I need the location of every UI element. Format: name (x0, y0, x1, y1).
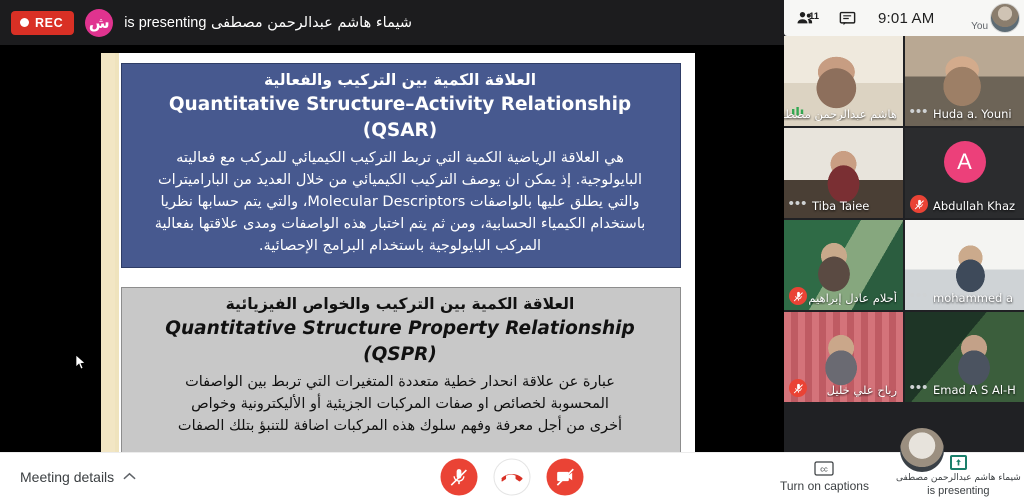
qspr-body-line-2: المحسوبة لخصائص او صفات المركبات الجزيئي… (132, 393, 668, 415)
mic-off-icon (793, 291, 804, 302)
meeting-clock: 9:01 AM (868, 10, 940, 27)
participant-tile[interactable]: ••• Tiba Taiee (784, 128, 903, 218)
participant-name: هاشم عبدالرحمن مصطفى (784, 107, 897, 121)
participant-name: رباح علي خليل (827, 383, 897, 397)
self-label: You (971, 21, 988, 36)
presenter-avatar: ش (85, 9, 113, 37)
qsar-body-line-5: المركب البايولوجية باستخدام البرامج الإح… (132, 235, 668, 257)
participants-button[interactable]: 11 (784, 8, 826, 28)
presenting-person-name: شيماء هاشم عبدالرحمن مصطفى (896, 473, 1021, 484)
presenting-banner: شيماء هاشم عبدالرحمن مصطفى is presenting (124, 15, 412, 31)
mouse-cursor (76, 355, 86, 370)
participant-tile[interactable]: A Abdullah Khaz (905, 128, 1024, 218)
muted-icon (789, 287, 807, 305)
captions-button[interactable]: cc Turn on captions (780, 461, 869, 493)
present-arrow-icon (954, 458, 963, 467)
more-options-icon[interactable]: ••• (910, 103, 928, 121)
participant-tile[interactable]: ••• Emad A S Al-H (905, 312, 1024, 402)
participant-tile[interactable]: أحلام عادل إبراهيم (784, 220, 903, 310)
record-dot-icon (20, 18, 29, 27)
mic-off-icon (793, 383, 804, 394)
self-avatar[interactable] (990, 3, 1020, 33)
slide-block-qspr: العلاقة الكمية بين التركيب والخواص الفيز… (121, 287, 681, 452)
mic-off-icon (450, 467, 469, 486)
recording-label: REC (35, 16, 63, 30)
leave-call-button[interactable] (494, 458, 531, 495)
recording-badge: REC (11, 11, 74, 35)
mic-toggle-button[interactable] (441, 458, 478, 495)
chat-button[interactable] (826, 9, 868, 28)
muted-icon (910, 195, 928, 213)
call-controls (441, 458, 584, 495)
more-options-icon[interactable]: ••• (910, 379, 928, 397)
self-view-thumbnail[interactable] (900, 428, 944, 472)
qsar-body-line-3-post: ، والتي يتم حسابها نظريا (160, 194, 307, 210)
participant-name: Tiba Taiee (812, 199, 899, 213)
more-options-icon[interactable]: ••• (789, 195, 807, 213)
participant-name: Abdullah Khaz (933, 199, 1020, 213)
qsar-title-english: Quantitative Structure–Activity Relation… (132, 92, 668, 144)
qspr-title-arabic: العلاقة الكمية بين التركيب والخواص الفيز… (132, 294, 668, 315)
rail-header: 11 9:01 AM You (784, 0, 1024, 36)
meet-window: العلاقة الكمية بين التركيب والفعالية Qua… (0, 0, 1024, 500)
chat-icon (838, 9, 857, 28)
camera-off-icon (555, 467, 575, 487)
participant-avatar-initial: A (957, 149, 972, 175)
qsar-body-line-4: باستخدام الكيمياء الحسابية، ومن ثم يتم ا… (132, 213, 668, 235)
participant-name: أحلام عادل إبراهيم (808, 291, 897, 305)
meeting-details-button[interactable]: Meeting details (20, 469, 136, 485)
camera-toggle-button[interactable] (547, 458, 584, 495)
qsar-body-line-3-english: Molecular Descriptors (307, 194, 465, 210)
qsar-title-arabic: العلاقة الكمية بين التركيب والفعالية (132, 70, 668, 91)
presenting-suffix: is presenting (124, 15, 206, 31)
participant-tile[interactable]: ••• mohammed a (905, 220, 1024, 310)
presenting-status-label: is presenting (927, 485, 989, 499)
recording-topbar: REC ش شيماء هاشم عبدالرحمن مصطفى is pres… (0, 0, 784, 45)
presenter-avatar-initial: ش (89, 14, 110, 32)
participant-name: mohammed a (933, 291, 1020, 305)
presentation-stage[interactable]: العلاقة الكمية بين التركيب والفعالية Qua… (0, 0, 784, 452)
participant-name: Huda a. Youni (933, 107, 1020, 121)
presenter-name: شيماء هاشم عبدالرحمن مصطفى (211, 15, 412, 31)
svg-text:cc: cc (821, 464, 829, 473)
more-options-icon[interactable]: ••• (910, 287, 928, 305)
participant-tiles: هاشم عبدالرحمن مصطفى ••• Huda a. Youni •… (784, 36, 1024, 452)
present-screen-icon (950, 455, 967, 470)
qsar-body-line-2: البايولوجية. إذ يمكن ان يوصف التركيب الك… (132, 169, 668, 191)
qsar-body-line-3: والتي يطلق عليها بالواصفات Molecular Des… (132, 191, 668, 213)
qspr-title-english: Quantitative Structure Property Relation… (132, 316, 668, 368)
slide-decor-band (101, 53, 115, 452)
participant-avatar: A (944, 141, 986, 183)
meeting-toolbar: Meeting details (0, 452, 1024, 500)
qsar-body-line-3-pre: والتي يطلق عليها بالواصفات (465, 194, 639, 210)
chevron-up-icon (123, 472, 136, 481)
hangup-icon (502, 466, 523, 487)
closed-captions-icon: cc (814, 461, 834, 476)
slide-canvas: العلاقة الكمية بين التركيب والفعالية Qua… (101, 53, 695, 452)
meeting-details-label: Meeting details (20, 469, 114, 485)
qspr-body-line-1: عبارة عن علاقة انحدار خطية متعددة المتغي… (132, 371, 668, 393)
qsar-body-line-1: هي العلاقة الرياضية الكمية التي تربط الت… (132, 147, 668, 169)
slide-block-qsar: العلاقة الكمية بين التركيب والفعالية Qua… (121, 63, 681, 268)
muted-icon (789, 379, 807, 397)
participants-rail: 11 9:01 AM You (784, 0, 1024, 452)
participant-tile[interactable]: رباح علي خليل (784, 312, 903, 402)
participants-count: 11 (809, 11, 819, 22)
participant-name: Emad A S Al-H (933, 383, 1020, 397)
slide-decor-band-inner (115, 53, 119, 452)
qspr-body-line-3: أخرى من أجل معرفة وفهم سلوك هذه المركبات… (132, 415, 668, 437)
participant-tile[interactable]: هاشم عبدالرحمن مصطفى (784, 36, 903, 126)
participant-tile[interactable]: ••• Huda a. Youni (905, 36, 1024, 126)
captions-label: Turn on captions (780, 479, 869, 493)
mic-off-icon (914, 199, 925, 210)
